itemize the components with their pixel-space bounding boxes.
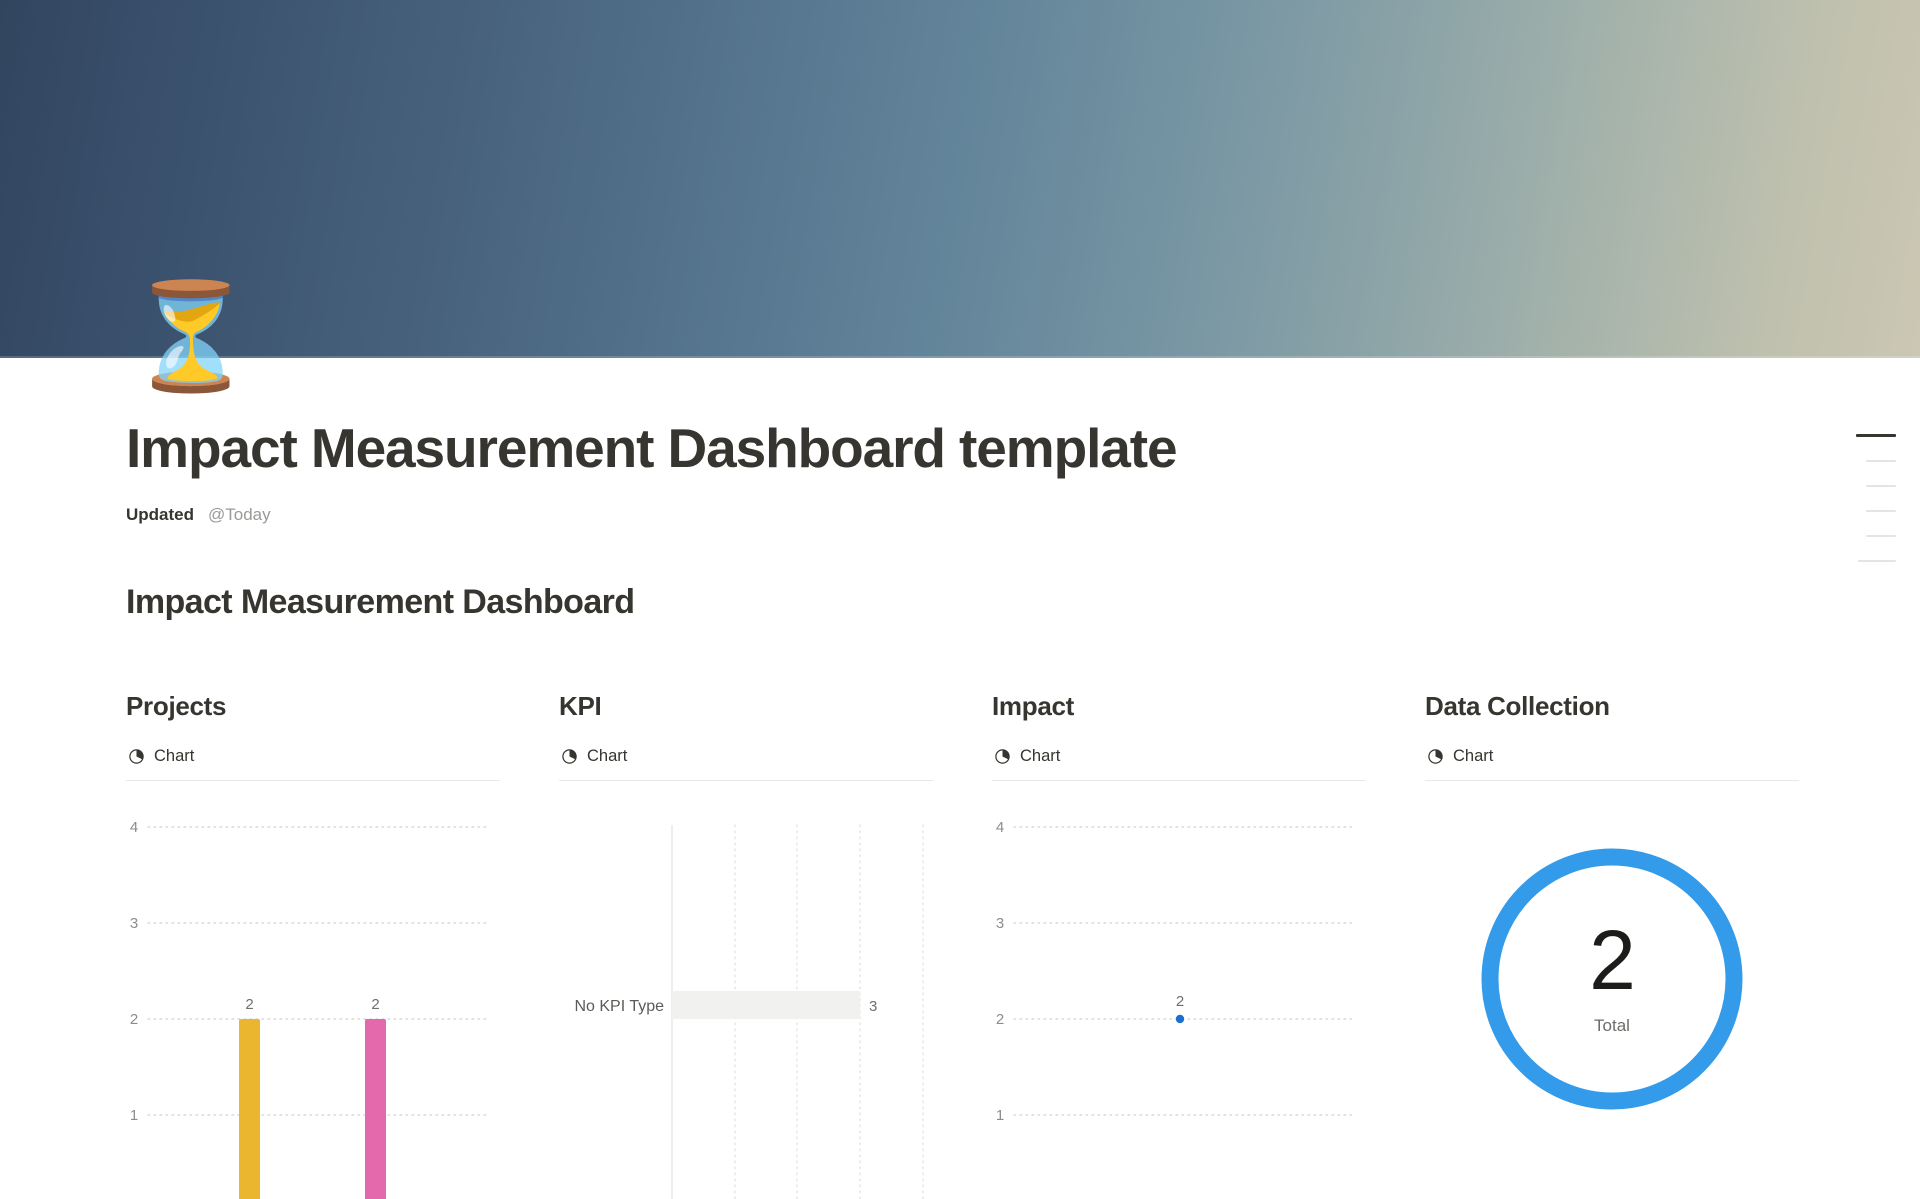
bar-label-series-a: 2	[245, 996, 253, 1013]
tab-chart[interactable]: Chart	[126, 745, 198, 768]
pie-chart-icon	[128, 748, 145, 765]
tab-chart-label: Chart	[1020, 747, 1060, 766]
column-kpi: KPI Chart	[559, 690, 933, 1199]
ytick-3: 3	[996, 915, 1004, 932]
title-area: Impact Measurement Dashboard template Up…	[126, 418, 1686, 527]
hourglass-emoji-icon[interactable]: ⏳	[126, 278, 244, 396]
pie-chart-icon	[561, 748, 578, 765]
donut-total-value: 2	[1589, 921, 1635, 1001]
donut-chart[interactable]: 2 Total	[1476, 843, 1748, 1115]
bar-label-no-kpi-type: 3	[869, 998, 877, 1015]
bar-chart-svg: 4 3 2 1 2 2	[126, 815, 500, 1199]
column-impact: Impact Chart	[992, 690, 1366, 1199]
pie-chart-icon	[994, 748, 1011, 765]
column-projects: Projects Chart	[126, 690, 500, 1199]
column-title: Projects	[126, 690, 500, 723]
ytick-2: 2	[996, 1011, 1004, 1028]
dashboard-columns: Projects Chart	[126, 690, 1806, 1199]
page-meta-row: Updated @Today	[126, 503, 1686, 527]
bar-label-series-b: 2	[371, 996, 379, 1013]
ytick-4: 4	[996, 819, 1004, 836]
bar-no-kpi-type[interactable]	[672, 991, 860, 1019]
ytick-2: 2	[130, 1011, 138, 1028]
ytick-3: 3	[130, 915, 138, 932]
tab-chart[interactable]: Chart	[559, 745, 631, 768]
toc-line[interactable]	[1858, 560, 1896, 562]
toc-line-active[interactable]	[1856, 434, 1896, 437]
chart-projects[interactable]: 4 3 2 1 2 2	[126, 815, 500, 1199]
tab-chart[interactable]: Chart	[992, 745, 1064, 768]
ytick-1: 1	[996, 1107, 1004, 1124]
category-label-no-kpi-type: No KPI Type	[574, 998, 664, 1015]
data-point-label: 2	[1176, 993, 1184, 1010]
toc-line[interactable]	[1866, 460, 1896, 462]
tab-chart-label: Chart	[587, 747, 627, 766]
page-title[interactable]: Impact Measurement Dashboard template	[126, 418, 1686, 479]
ytick-4: 4	[130, 819, 138, 836]
tab-chart-label: Chart	[1453, 747, 1493, 766]
table-of-contents-rail[interactable]	[1838, 434, 1896, 562]
toc-line[interactable]	[1866, 510, 1896, 512]
column-data-collection: Data Collection Chart	[1425, 690, 1799, 1199]
section-heading[interactable]: Impact Measurement Dashboard	[126, 583, 634, 622]
tab-chart-label: Chart	[154, 747, 194, 766]
tab-chart[interactable]: Chart	[1425, 745, 1497, 768]
updated-value[interactable]: @Today	[208, 505, 271, 525]
column-title: KPI	[559, 690, 933, 723]
donut-center: 2 Total	[1476, 843, 1748, 1115]
tab-row: Chart	[559, 745, 933, 781]
column-title: Data Collection	[1425, 690, 1799, 723]
page-cover-banner[interactable]	[0, 0, 1920, 358]
toc-line[interactable]	[1866, 535, 1896, 537]
ytick-1: 1	[130, 1107, 138, 1124]
tab-row: Chart	[1425, 745, 1799, 781]
chart-kpi[interactable]: No KPI Type 3	[559, 815, 933, 1199]
bar-series-a[interactable]	[239, 1019, 260, 1199]
bar-series-b[interactable]	[365, 1019, 386, 1199]
tab-row: Chart	[126, 745, 500, 781]
line-chart-svg: 4 3 2 1 2	[992, 815, 1366, 1199]
notion-page: ⏳ Impact Measurement Dashboard template …	[0, 0, 1920, 1199]
chart-data-collection[interactable]: 2 Total	[1425, 815, 1799, 1199]
updated-label: Updated	[126, 505, 194, 525]
tab-row: Chart	[992, 745, 1366, 781]
donut-total-label: Total	[1594, 1016, 1630, 1036]
column-title: Impact	[992, 690, 1366, 723]
pie-chart-icon	[1427, 748, 1444, 765]
horizontal-bar-chart-svg: No KPI Type 3	[559, 815, 933, 1199]
toc-line[interactable]	[1866, 485, 1896, 487]
data-point[interactable]	[1176, 1014, 1184, 1022]
chart-impact[interactable]: 4 3 2 1 2	[992, 815, 1366, 1199]
